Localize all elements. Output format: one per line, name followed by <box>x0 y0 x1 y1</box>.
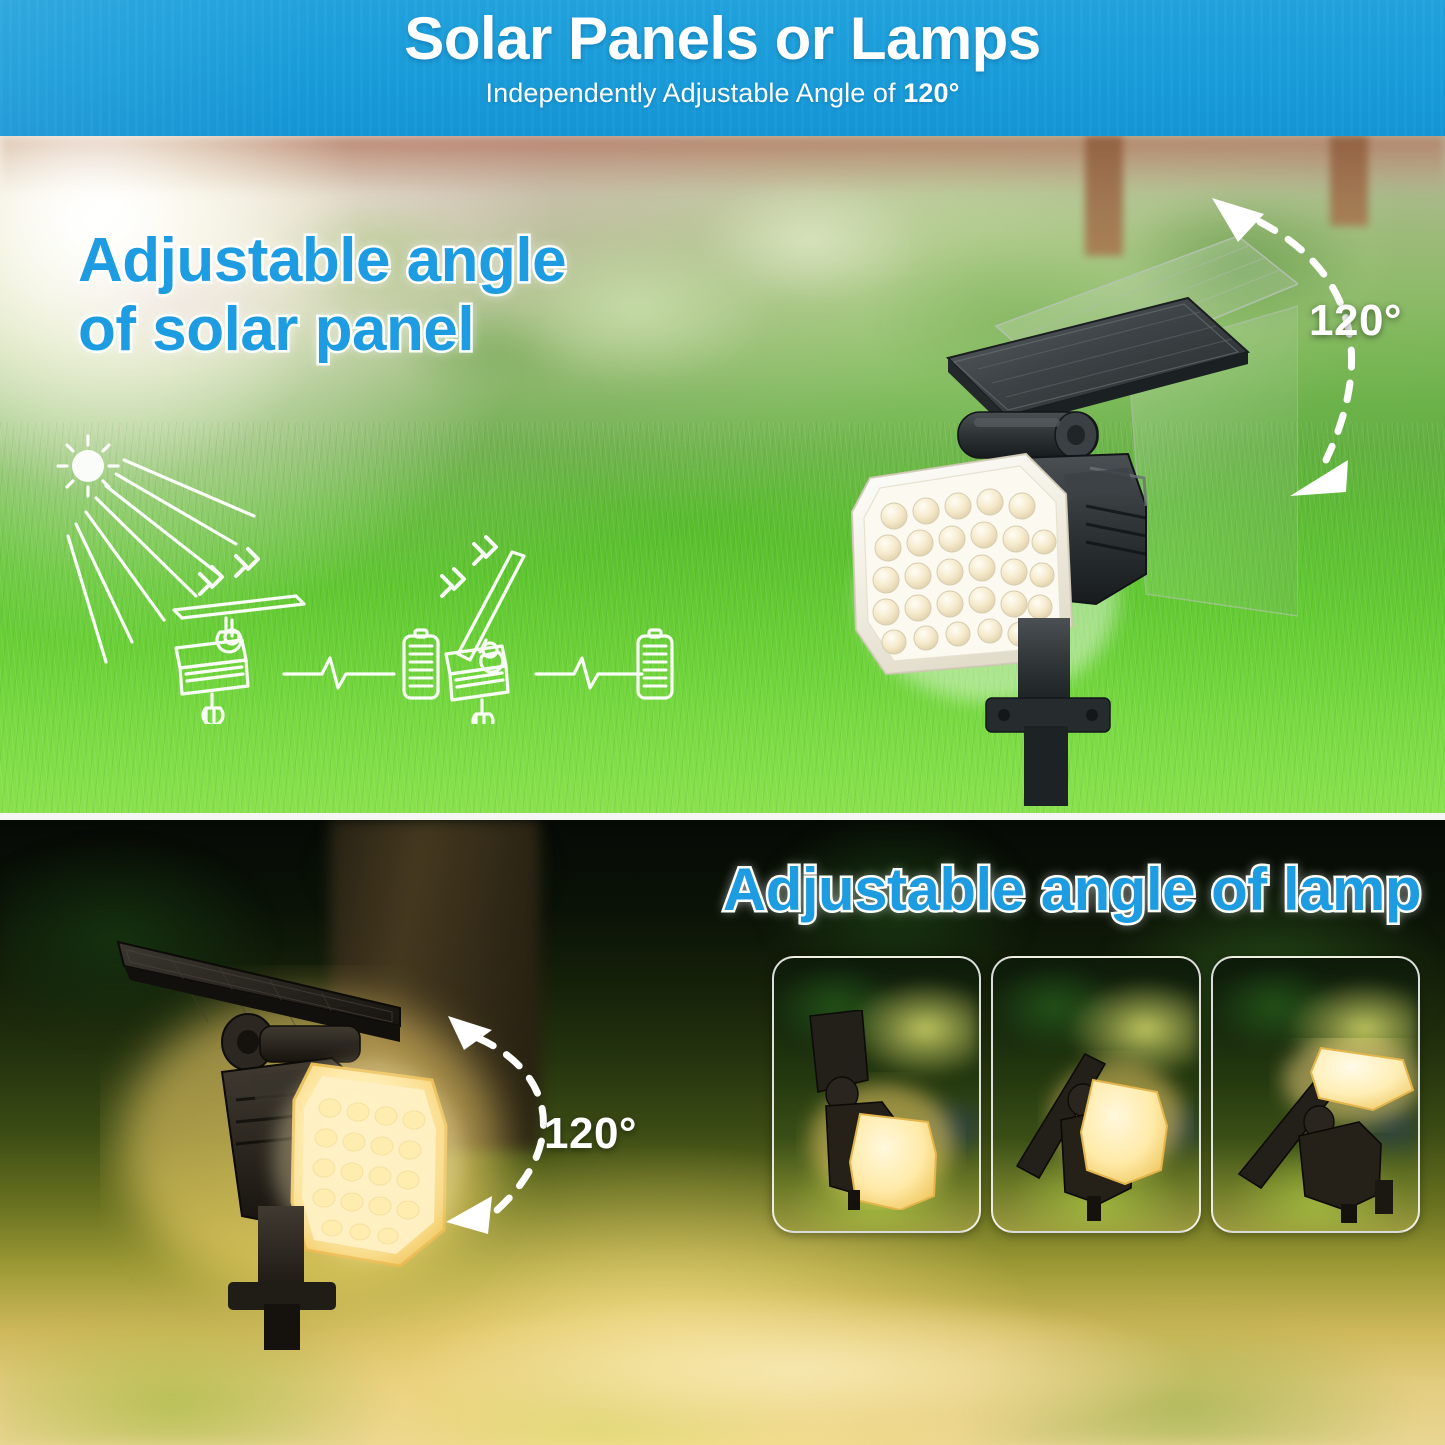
lamp-angle-position-2 <box>1009 1046 1194 1221</box>
angle-label-top: 120° <box>1309 296 1402 346</box>
header-subtitle-text: Independently Adjustable Angle of <box>486 78 904 108</box>
arrow-head-up <box>1212 198 1264 242</box>
lamp-angle-thumbnail-row <box>772 956 1420 1233</box>
header-banner: Solar Panels or Lamps Independently Adju… <box>0 0 1445 136</box>
thumbnail-card-2[interactable] <box>991 956 1200 1233</box>
header-subtitle-value: 120° <box>903 78 959 108</box>
down-chevrons-icon <box>442 537 496 596</box>
lamp-angle-position-3 <box>1233 1038 1420 1223</box>
angle-label-bottom: 120° <box>544 1109 637 1159</box>
dashed-arc <box>478 1038 543 1218</box>
top-headline: Adjustable angle of solar panel <box>78 226 566 365</box>
solar-lamp-flat-panel-icon <box>174 596 304 724</box>
down-chevrons-icon <box>200 549 258 594</box>
panel-divider <box>0 813 1445 820</box>
charging-infographic <box>46 424 686 724</box>
battery-full-icon <box>638 630 672 698</box>
header-title: Solar Panels or Lamps <box>0 0 1445 72</box>
solar-lamp-tilted-panel-icon <box>446 552 524 724</box>
pulse-line-icon <box>536 658 642 688</box>
battery-full-icon <box>404 630 438 698</box>
panel-hinge <box>958 412 1098 458</box>
product-infographic-image: Solar Panels or Lamps Independently Adju… <box>0 0 1445 1445</box>
pulse-line-icon <box>284 658 394 688</box>
arrow-head-down <box>446 1196 492 1234</box>
bottom-headline: Adjustable angle of lamp <box>723 856 1421 923</box>
thumbnail-card-1[interactable] <box>772 956 981 1233</box>
header-subtitle: Independently Adjustable Angle of 120° <box>0 72 1445 109</box>
thumbnail-card-3[interactable] <box>1211 956 1420 1233</box>
lamp-angle-position-1 <box>796 1010 966 1210</box>
arrow-head-down <box>1290 460 1348 496</box>
